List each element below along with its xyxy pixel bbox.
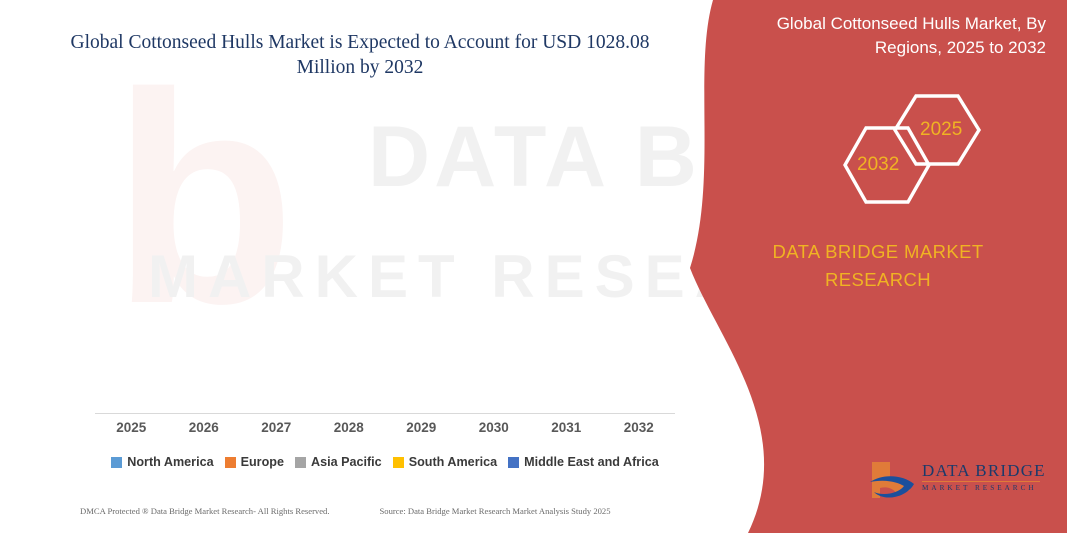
- panel-content: Global Cottonseed Hulls Market, By Regio…: [688, 0, 1067, 533]
- legend-swatch-icon: [393, 457, 404, 468]
- brand-name-line-2: RESEARCH: [728, 266, 1028, 294]
- logo-wordmark: DATA BRIDGE MARKET RESEARCH: [922, 461, 1046, 492]
- company-logo: DATA BRIDGE MARKET RESEARCH: [868, 458, 1048, 508]
- logo-divider: [922, 481, 1040, 482]
- legend-swatch-icon: [225, 457, 236, 468]
- logo-bridge-icon: [868, 458, 920, 502]
- chart-area: Global Cottonseed Hulls Market is Expect…: [0, 0, 700, 533]
- footer-source: Source: Data Bridge Market Research Mark…: [380, 506, 611, 516]
- panel-title: Global Cottonseed Hulls Market, By Regio…: [746, 12, 1046, 60]
- bar-slot: [313, 120, 386, 413]
- x-axis-line: [95, 413, 675, 414]
- bar-slot: [458, 120, 531, 413]
- bar-slot: [530, 120, 603, 413]
- legend-item[interactable]: South America: [393, 455, 497, 469]
- bar-slot: [385, 120, 458, 413]
- x-axis-label: 2027: [240, 420, 313, 435]
- footer-copyright: DMCA Protected ® Data Bridge Market Rese…: [80, 506, 330, 516]
- legend-label: Europe: [241, 455, 284, 469]
- bar-slot: [240, 120, 313, 413]
- legend-swatch-icon: [295, 457, 306, 468]
- hexagon-shapes: [808, 92, 1018, 222]
- x-axis-label: 2029: [385, 420, 458, 435]
- chart-legend: North AmericaEuropeAsia PacificSouth Ame…: [95, 455, 675, 469]
- logo-sub-text: MARKET RESEARCH: [922, 484, 1046, 492]
- x-axis-label: 2026: [168, 420, 241, 435]
- hexagon-label-end: 2032: [857, 154, 899, 176]
- legend-item[interactable]: Europe: [225, 455, 284, 469]
- brand-panel: Global Cottonseed Hulls Market, By Regio…: [688, 0, 1067, 533]
- footer: DMCA Protected ® Data Bridge Market Rese…: [80, 506, 680, 516]
- x-axis-labels: 20252026202720282029203020312032: [95, 420, 675, 435]
- brand-name-line-1: DATA BRIDGE MARKET: [728, 238, 1028, 266]
- x-axis-label: 2032: [603, 420, 676, 435]
- x-axis-label: 2025: [95, 420, 168, 435]
- hexagon-group: 2025 2032: [808, 92, 1018, 222]
- infographic-slide: b DATA BRIDGE MARKET RESEARCH Global Cot…: [0, 0, 1067, 533]
- bar-slot: [168, 120, 241, 413]
- bar-group: [95, 120, 675, 413]
- plot-region: [95, 120, 675, 413]
- bar-slot: [603, 120, 676, 413]
- bar-slot: [95, 120, 168, 413]
- legend-label: Asia Pacific: [311, 455, 382, 469]
- brand-name: DATA BRIDGE MARKET RESEARCH: [728, 238, 1028, 294]
- legend-item[interactable]: Middle East and Africa: [508, 455, 659, 469]
- legend-item[interactable]: North America: [111, 455, 213, 469]
- legend-item[interactable]: Asia Pacific: [295, 455, 382, 469]
- legend-label: Middle East and Africa: [524, 455, 659, 469]
- chart-title: Global Cottonseed Hulls Market is Expect…: [60, 30, 660, 80]
- legend-swatch-icon: [508, 457, 519, 468]
- hexagon-label-start: 2025: [920, 119, 962, 141]
- legend-label: North America: [127, 455, 213, 469]
- x-axis-label: 2030: [458, 420, 531, 435]
- legend-label: South America: [409, 455, 497, 469]
- logo-main-text: DATA BRIDGE: [922, 461, 1046, 480]
- x-axis-label: 2031: [530, 420, 603, 435]
- legend-swatch-icon: [111, 457, 122, 468]
- x-axis-label: 2028: [313, 420, 386, 435]
